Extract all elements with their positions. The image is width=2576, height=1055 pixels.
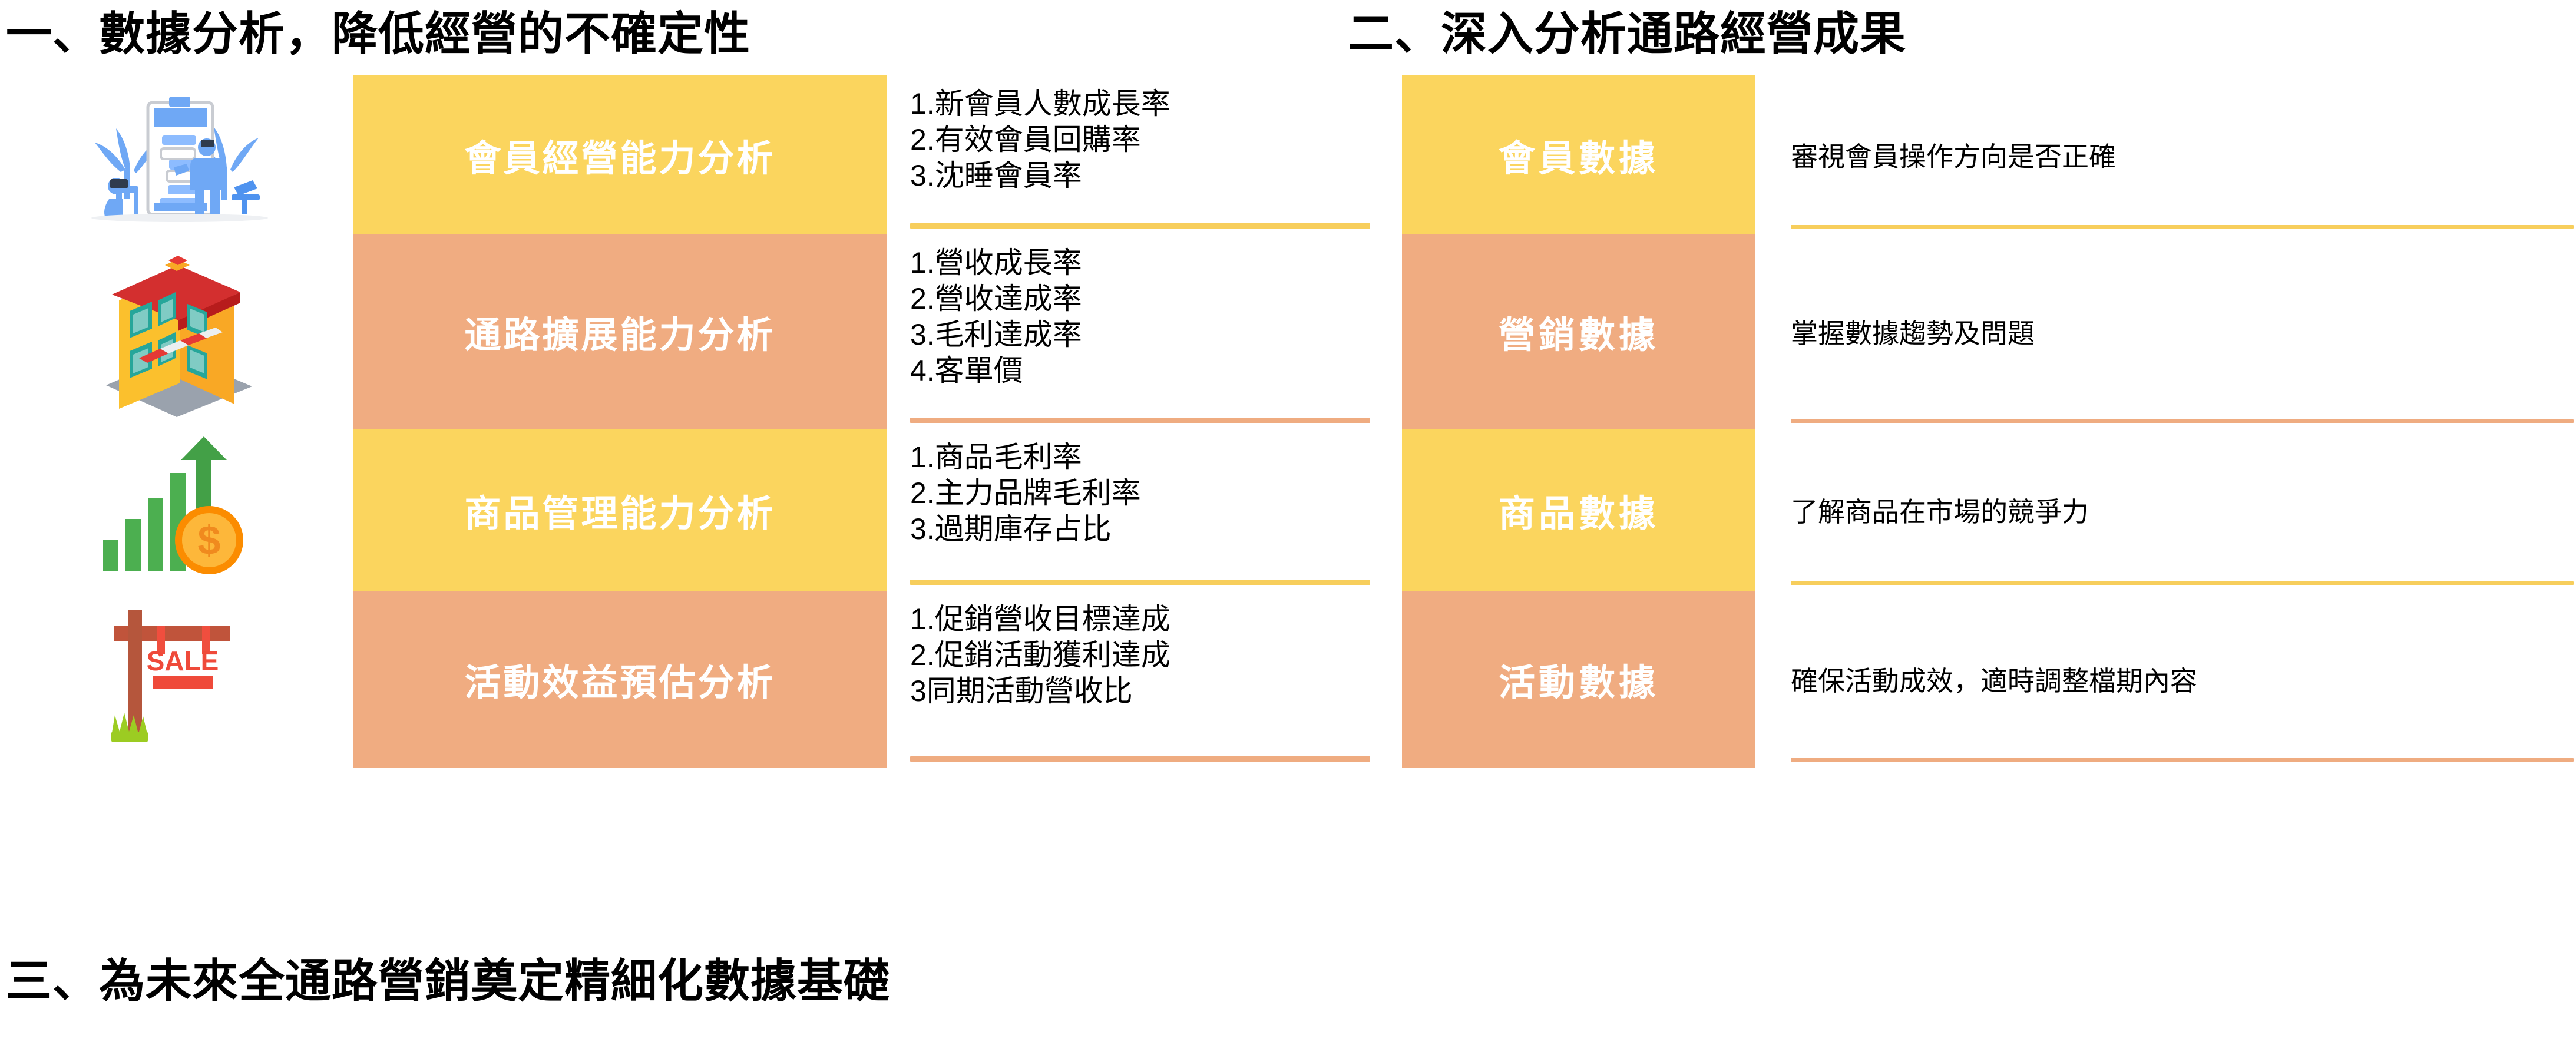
data-result-row: 商品數據 了解商品在市場的競爭力 [1402, 429, 2576, 591]
list-item: 1.營收成長率 [910, 245, 1373, 281]
data-description-cell: 了解商品在市場的競爭力 [1791, 429, 2576, 591]
sale-signpost-icon: SALE [0, 591, 353, 768]
team-clipboard-illustration-icon [0, 75, 353, 234]
list-item: 2.促銷活動獲利達成 [910, 637, 1373, 673]
description-text: 審視會員操作方向是否正確 [1791, 135, 2576, 174]
left-column: 會員經營能力分析 1.新會員人數成長率 2.有效會員回購率 3.沈睡會員率 [0, 75, 1373, 768]
list-item: 3.毛利達成率 [910, 317, 1373, 353]
list-item: 2.主力品牌毛利率 [910, 475, 1373, 511]
list-item: 4.客單價 [910, 353, 1373, 389]
list-item: 3同期活動營收比 [910, 673, 1373, 709]
section-three-heading: 三、為未來全通路營銷奠定精細化數據基礎 [6, 958, 890, 1004]
row-underline [910, 580, 1370, 585]
capability-row: 會員經營能力分析 1.新會員人數成長率 2.有效會員回購率 3.沈睡會員率 [0, 75, 1373, 234]
row-underline [1791, 225, 2574, 229]
row-underline [1791, 581, 2574, 585]
description-text: 了解商品在市場的競爭力 [1791, 491, 2576, 530]
slide-canvas: 一、數據分析，降低經營的不確定性 二、深入分析通路經營成果 三、為未來全通路營銷… [0, 0, 2576, 1055]
capability-label-box[interactable]: 活動效益預估分析 [353, 591, 887, 768]
row-underline [910, 223, 1370, 229]
list-item: 1.新會員人數成長率 [910, 86, 1373, 122]
metric-list-cell: 1.商品毛利率 2.主力品牌毛利率 3.過期庫存占比 [910, 429, 1373, 591]
metric-list-cell: 1.促銷營收目標達成 2.促銷活動獲利達成 3同期活動營收比 [910, 591, 1373, 768]
section-one-heading: 一、數據分析，降低經營的不確定性 [6, 11, 750, 57]
list-item: 1.促銷營收目標達成 [910, 601, 1373, 637]
metric-list: 1.新會員人數成長率 2.有效會員回購率 3.沈睡會員率 [910, 86, 1373, 194]
capability-label-box[interactable]: 會員經營能力分析 [353, 75, 887, 234]
data-description-cell: 確保活動成效，適時調整檔期內容 [1791, 591, 2576, 768]
metric-list: 1.營收成長率 2.營收達成率 3.毛利達成率 4.客單價 [910, 245, 1373, 389]
description-text: 掌握數據趨勢及問題 [1791, 312, 2576, 351]
data-label-box[interactable]: 營銷數據 [1402, 234, 1755, 429]
section-two-heading: 二、深入分析通路經營成果 [1348, 11, 1906, 57]
data-label-box[interactable]: 活動數據 [1402, 591, 1755, 768]
data-result-row: 會員數據 審視會員操作方向是否正確 [1402, 75, 2576, 234]
description-text: 確保活動成效，適時調整檔期內容 [1791, 660, 2576, 699]
storefront-building-icon [0, 234, 353, 429]
coin-dollar-glyph: $ [198, 517, 221, 563]
list-item: 3.過期庫存占比 [910, 511, 1373, 547]
list-item: 2.有效會員回購率 [910, 122, 1373, 158]
right-column: 會員數據 審視會員操作方向是否正確 營銷數據 掌握數據趨勢及問題 商品數據 了解… [1402, 75, 2576, 768]
row-underline [910, 756, 1370, 762]
data-description-cell: 掌握數據趨勢及問題 [1791, 234, 2576, 429]
capability-row: SALE 活動效益預估分析 1.促銷營收目標達成 2.促銷活動獲利達成 3同期活… [0, 591, 1373, 768]
capability-row: 通路擴展能力分析 1.營收成長率 2.營收達成率 3.毛利達成率 4.客單價 [0, 234, 1373, 429]
capability-label-box[interactable]: 通路擴展能力分析 [353, 234, 887, 429]
metric-list-cell: 1.營收成長率 2.營收達成率 3.毛利達成率 4.客單價 [910, 234, 1373, 429]
list-item: 1.商品毛利率 [910, 439, 1373, 475]
growth-chart-coin-icon: $ [0, 429, 353, 591]
list-item: 2.營收達成率 [910, 281, 1373, 317]
list-item: 3.沈睡會員率 [910, 158, 1373, 194]
row-underline [1791, 758, 2574, 762]
data-result-row: 營銷數據 掌握數據趨勢及問題 [1402, 234, 2576, 429]
row-underline [910, 418, 1370, 423]
capability-row: $ 商品管理能力分析 1.商品毛利率 2.主力品牌毛利率 3.過期庫存占比 [0, 429, 1373, 591]
metric-list: 1.促銷營收目標達成 2.促銷活動獲利達成 3同期活動營收比 [910, 601, 1373, 709]
capability-label-box[interactable]: 商品管理能力分析 [353, 429, 887, 591]
metric-list: 1.商品毛利率 2.主力品牌毛利率 3.過期庫存占比 [910, 439, 1373, 547]
row-underline [1791, 419, 2574, 423]
data-result-row: 活動數據 確保活動成效，適時調整檔期內容 [1402, 591, 2576, 768]
data-label-box[interactable]: 會員數據 [1402, 75, 1755, 234]
data-label-box[interactable]: 商品數據 [1402, 429, 1755, 591]
data-description-cell: 審視會員操作方向是否正確 [1791, 75, 2576, 234]
sale-sign-text: SALE [147, 646, 219, 676]
metric-list-cell: 1.新會員人數成長率 2.有效會員回購率 3.沈睡會員率 [910, 75, 1373, 234]
